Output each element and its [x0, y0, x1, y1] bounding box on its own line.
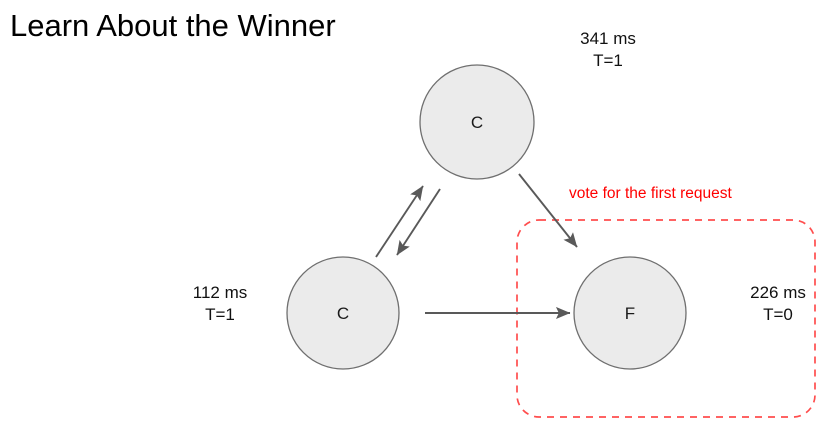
node-right-label: F — [610, 305, 650, 322]
node-right-latency: 226 ms — [718, 282, 836, 304]
arrow-left-to-top — [376, 186, 423, 257]
node-left-latency: 112 ms — [160, 282, 280, 304]
slide-canvas: Learn About the Winner C 341 ms T=1 C 11… — [0, 0, 836, 443]
node-left-label: C — [323, 305, 363, 322]
diagram-graphics — [0, 0, 836, 443]
node-right-term: T=0 — [718, 304, 836, 326]
node-top-metrics: 341 ms T=1 — [548, 28, 668, 72]
page-title: Learn About the Winner — [10, 7, 336, 45]
node-top-latency: 341 ms — [548, 28, 668, 50]
node-top-term: T=1 — [548, 50, 668, 72]
node-right-metrics: 226 ms T=0 — [718, 282, 836, 326]
node-left-metrics: 112 ms T=1 — [160, 282, 280, 326]
node-top-label: C — [457, 114, 497, 131]
node-left-term: T=1 — [160, 304, 280, 326]
vote-annotation-label: vote for the first request — [569, 184, 732, 204]
arrow-top-to-left — [397, 189, 440, 255]
